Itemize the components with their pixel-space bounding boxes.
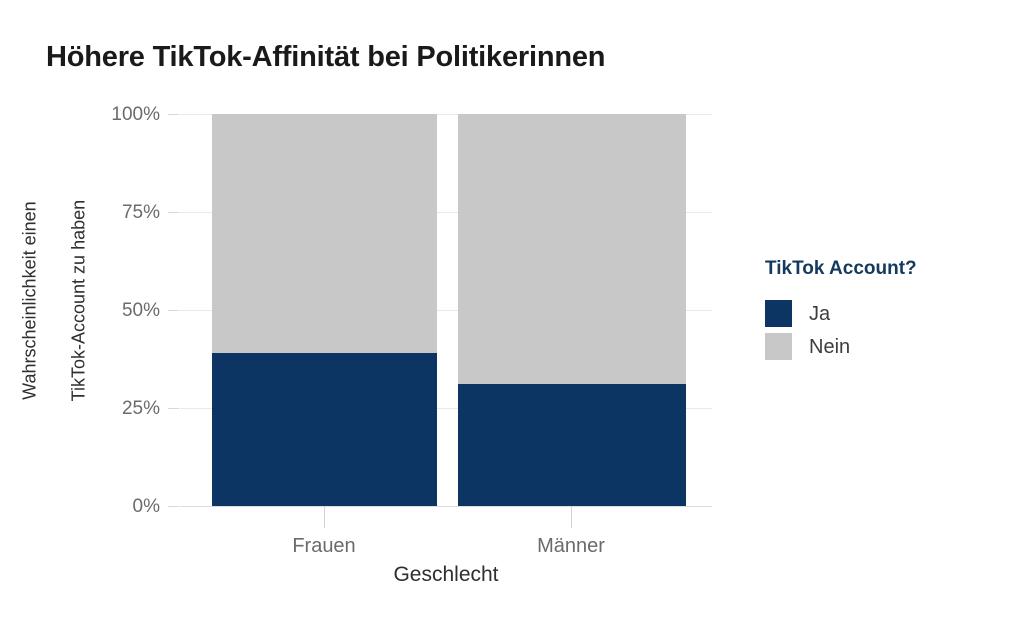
- legend: TikTok Account? Ja Nein: [765, 258, 917, 366]
- y-tick-label-0: 0%: [92, 497, 160, 516]
- y-tick-mark-50: [168, 310, 179, 311]
- legend-swatch-nein: [765, 333, 792, 360]
- bar-segment-frauen-nein[interactable]: [212, 114, 437, 353]
- bar-segment-frauen-ja[interactable]: [212, 353, 437, 506]
- bar-group-frauen[interactable]: [212, 114, 437, 506]
- y-tick-mark-25: [168, 408, 179, 409]
- legend-label-ja: Ja: [809, 304, 830, 324]
- y-tick-label-50: 50%: [92, 301, 160, 320]
- y-tick-mark-0: [168, 506, 179, 507]
- gridline-0: [180, 506, 712, 507]
- y-axis-tick-labels: 100% 75% 50% 25% 0%: [92, 0, 160, 640]
- legend-item-ja[interactable]: Ja: [765, 300, 917, 327]
- x-tick-mark-frauen: [324, 506, 325, 528]
- y-tick-mark-100: [168, 114, 179, 115]
- x-axis-title: Geschlecht: [180, 563, 712, 587]
- y-tick-label-75: 75%: [92, 203, 160, 222]
- y-axis-title-line-2: TikTok-Account zu haben: [68, 200, 88, 401]
- y-tick-label-100: 100%: [92, 105, 160, 124]
- bar-group-maenner[interactable]: [458, 114, 686, 506]
- x-tick-label-frauen: Frauen: [254, 535, 394, 558]
- y-tick-mark-75: [168, 212, 179, 213]
- plot-area: [180, 114, 712, 506]
- x-tick-mark-maenner: [571, 506, 572, 528]
- legend-title: TikTok Account?: [765, 258, 917, 280]
- y-axis-title: Wahrscheinlichkeit einen TikTok-Account …: [0, 171, 91, 431]
- x-tick-label-maenner: Männer: [501, 535, 641, 558]
- y-axis-title-line-1: Wahrscheinlichkeit einen: [20, 201, 40, 399]
- legend-swatch-ja: [765, 300, 792, 327]
- legend-label-nein: Nein: [809, 337, 850, 357]
- legend-item-nein[interactable]: Nein: [765, 333, 917, 360]
- bar-segment-maenner-nein[interactable]: [458, 114, 686, 384]
- bar-segment-maenner-ja[interactable]: [458, 384, 686, 506]
- y-tick-label-25: 25%: [92, 399, 160, 418]
